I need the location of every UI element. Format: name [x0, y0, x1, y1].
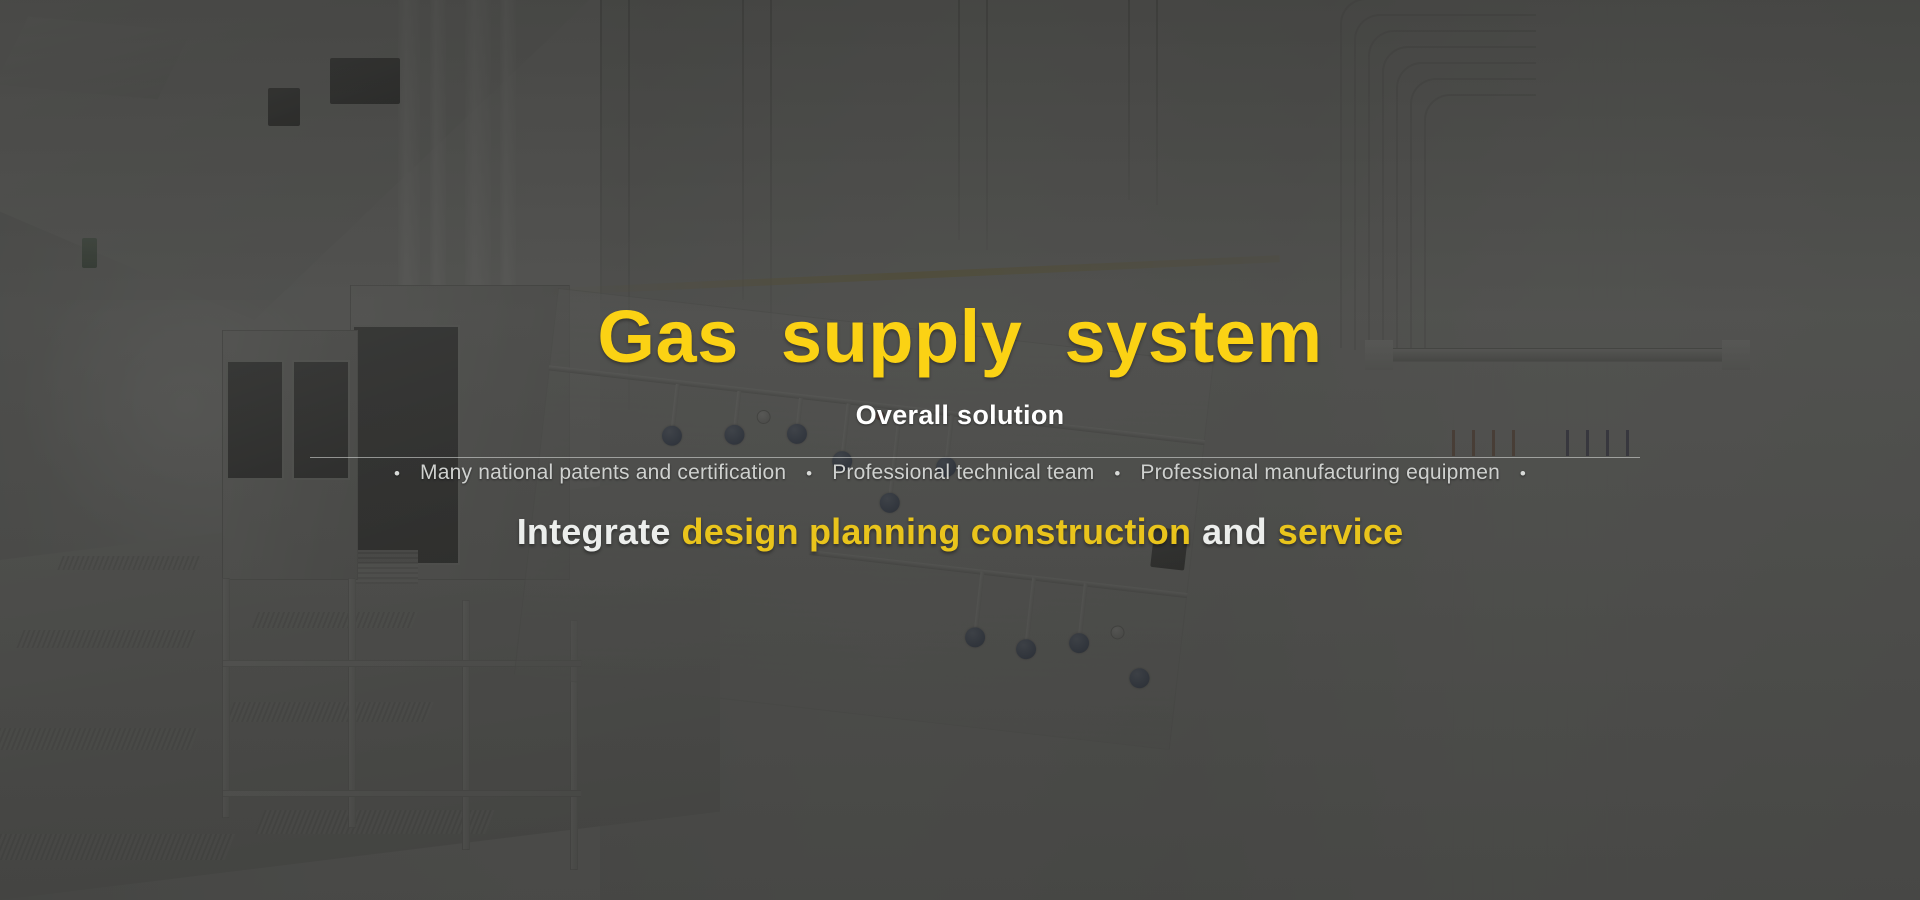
bullet-icon: •: [1100, 465, 1134, 482]
bullet-icon: •: [380, 465, 414, 482]
bullet-icon: •: [1506, 465, 1540, 482]
tagline: Integratedesign planning constructionand…: [517, 511, 1404, 553]
tagline-part-design: design planning construction: [682, 511, 1192, 552]
tagline-part-integrate: Integrate: [517, 511, 671, 552]
hero-banner: Gas supply system Overall solution • Man…: [0, 0, 1920, 900]
tagline-part-service: service: [1278, 511, 1404, 552]
tagline-part-and: and: [1202, 511, 1267, 552]
feature-item-patents: Many national patents and certification: [414, 461, 792, 485]
feature-item-equipment: Professional manufacturing equipmen: [1134, 461, 1506, 485]
page-subtitle: Overall solution: [856, 400, 1065, 431]
bullet-icon: •: [792, 465, 826, 482]
feature-item-team: Professional technical team: [826, 461, 1100, 485]
feature-list: • Many national patents and certificatio…: [380, 461, 1540, 485]
hero-content: Gas supply system Overall solution • Man…: [0, 0, 1920, 900]
page-title: Gas supply system: [597, 300, 1322, 374]
